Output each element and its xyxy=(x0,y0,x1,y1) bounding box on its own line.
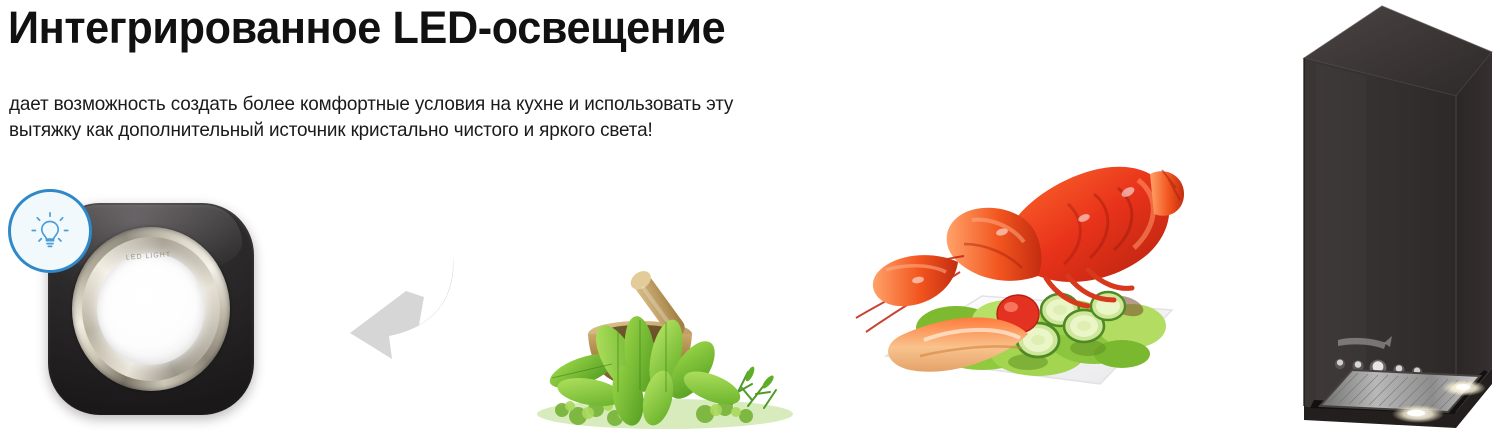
spotlight-glass-lens xyxy=(97,253,205,365)
subtitle-line-2: вытяжку как дополнительный источник крис… xyxy=(9,118,955,144)
mortar-and-pestle-herbs-image xyxy=(520,246,810,432)
subtitle-line-1: дает возможность создать более комфортны… xyxy=(9,92,955,118)
page-title: Интегрированное LED-освещение xyxy=(8,2,725,54)
lobster-salad-image xyxy=(832,158,1204,414)
led-lighting-promo-banner: Интегрированное LED-освещение дает возмо… xyxy=(0,0,1500,438)
light-bulb-icon xyxy=(24,205,76,257)
spotlight-chrome-ring: LED LIGHT xyxy=(72,227,230,391)
subtitle-paragraph: дает возможность создать более комфортны… xyxy=(9,92,969,143)
island-range-hood-image xyxy=(1296,2,1496,436)
curved-arrow-down-left-icon xyxy=(336,243,462,369)
light-bulb-badge xyxy=(8,189,92,273)
